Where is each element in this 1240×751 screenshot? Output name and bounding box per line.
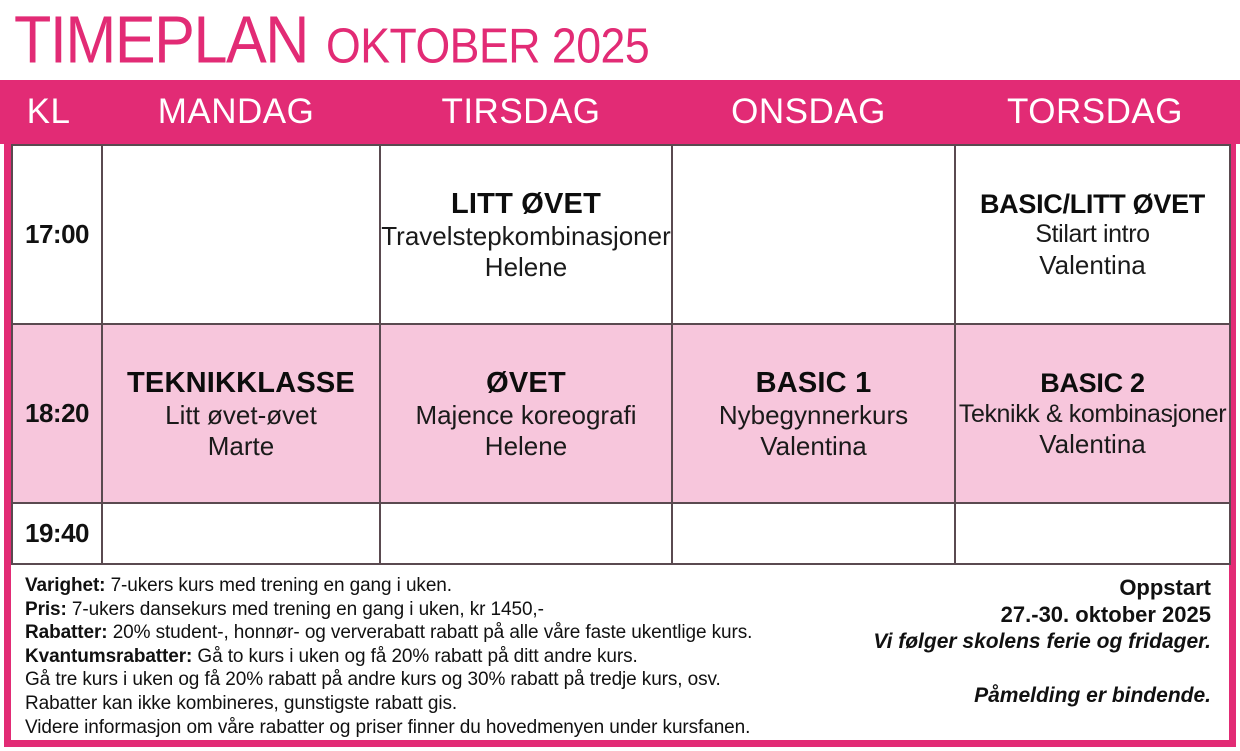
footer-line-text: Gå to kurs i uken og få 20% rabatt på di… bbox=[192, 646, 637, 667]
class-title: TEKNIKKLASSE bbox=[127, 366, 355, 400]
page-title: TIMEPLAN bbox=[14, 7, 308, 74]
poster-title-bar: TIMEPLAN OKTOBER 2025 bbox=[0, 0, 1240, 86]
start-dates: 27.-30. oktober 2025 bbox=[869, 601, 1211, 628]
class-desc: Teknikk & kombinasjoner bbox=[959, 400, 1226, 430]
footer-line-label: Pris: bbox=[25, 599, 67, 620]
class-teacher: Helene bbox=[485, 252, 567, 283]
start-label: Oppstart bbox=[869, 574, 1211, 601]
footer-line-text: 7-ukers dansekurs med trening en gang i … bbox=[67, 599, 544, 620]
schedule-row-1700: 17:00 LITT ØVET Travelstepkombinasjoner bbox=[12, 145, 1230, 324]
class-teacher: Valentina bbox=[1039, 429, 1146, 460]
class-title: ØVET bbox=[486, 366, 566, 400]
footer-line-text: Videre informasjon om våre rabatter og p… bbox=[25, 717, 750, 738]
class-cell-torsdag-1940[interactable] bbox=[955, 503, 1230, 564]
class-cell-tirsdag-1940[interactable] bbox=[380, 503, 672, 564]
poster-title: TIMEPLAN OKTOBER 2025 bbox=[14, 11, 659, 74]
class-cell-onsdag-1820[interactable]: BASIC 1 Nybegynnerkurs Valentina bbox=[672, 324, 955, 503]
holiday-note: Vi følger skolens ferie og fridager. bbox=[869, 628, 1211, 655]
footer-line-label: Rabatter: bbox=[25, 622, 108, 643]
class-title: BASIC 2 bbox=[1040, 368, 1144, 400]
column-header-mandag: MANDAG bbox=[97, 94, 375, 131]
class-teacher: Valentina bbox=[1039, 250, 1146, 281]
class-teacher: Helene bbox=[485, 431, 567, 462]
footer-line-text: 20% student-, honnør- og ververabatt rab… bbox=[108, 622, 753, 643]
class-desc: Majence koreografi bbox=[415, 400, 636, 431]
class-title: BASIC/LITT ØVET bbox=[980, 189, 1205, 221]
class-cell-mandag-1820[interactable]: TEKNIKKLASSE Litt øvet-øvet Marte bbox=[102, 324, 380, 503]
class-title: BASIC 1 bbox=[756, 366, 872, 400]
class-desc: Nybegynnerkurs bbox=[719, 400, 908, 431]
footer-line-label: Kvantumsrabatter: bbox=[25, 646, 192, 667]
class-title: LITT ØVET bbox=[451, 187, 601, 221]
schedule-row-1820: 18:20 TEKNIKKLASSE Litt øvet-øvet Marte … bbox=[12, 324, 1230, 503]
page-subtitle: OKTOBER 2025 bbox=[326, 21, 649, 70]
time-label: 17:00 bbox=[25, 219, 89, 249]
class-desc: Litt øvet-øvet bbox=[165, 400, 317, 431]
class-cell-mandag-1940[interactable] bbox=[102, 503, 380, 564]
footer-info: Varighet: 7-ukers kurs med trening en ga… bbox=[4, 565, 1236, 747]
day-header-row: KL MANDAG TIRSDAG ONSDAG TORSDAG bbox=[0, 80, 1240, 144]
time-cell-1940: 19:40 bbox=[12, 503, 102, 564]
schedule-grid: 17:00 LITT ØVET Travelstepkombinasjoner bbox=[4, 144, 1236, 565]
footer-line-kombineres: Rabatter kan ikke kombineres, gunstigste… bbox=[25, 692, 869, 716]
class-teacher: Valentina bbox=[760, 431, 867, 462]
class-teacher: Marte bbox=[208, 431, 274, 462]
footer-line-rabatter: Rabatter: 20% student-, honnør- og verve… bbox=[25, 621, 869, 645]
time-cell-1820: 18:20 bbox=[12, 324, 102, 503]
class-cell-mandag-1700[interactable] bbox=[102, 145, 380, 324]
class-cell-onsdag-1940[interactable] bbox=[672, 503, 955, 564]
schedule-row-1940: 19:40 bbox=[12, 503, 1230, 564]
time-cell-1700: 17:00 bbox=[12, 145, 102, 324]
footer-terms-list: Varighet: 7-ukers kurs med trening en ga… bbox=[11, 565, 869, 740]
footer-line-text: Rabatter kan ikke kombineres, gunstigste… bbox=[25, 693, 457, 714]
footer-line-tre-kurs: Gå tre kurs i uken og få 20% rabatt på a… bbox=[25, 668, 869, 692]
class-cell-onsdag-1700[interactable] bbox=[672, 145, 955, 324]
class-cell-tirsdag-1820[interactable]: ØVET Majence koreografi Helene bbox=[380, 324, 672, 503]
class-desc: Stilart intro bbox=[1035, 220, 1149, 250]
column-header-kl: KL bbox=[0, 94, 97, 131]
column-header-onsdag: ONSDAG bbox=[667, 94, 950, 131]
footer-line-text: Gå tre kurs i uken og få 20% rabatt på a… bbox=[25, 669, 721, 690]
class-cell-tirsdag-1700[interactable]: LITT ØVET Travelstepkombinasjoner Helene bbox=[380, 145, 672, 324]
time-label: 19:40 bbox=[25, 518, 89, 548]
footer-line-videre-info: Videre informasjon om våre rabatter og p… bbox=[25, 716, 869, 740]
footer-line-kvantumsrabatter: Kvantumsrabatter: Gå to kurs i uken og f… bbox=[25, 645, 869, 669]
footer-line-varighet: Varighet: 7-ukers kurs med trening en ga… bbox=[25, 574, 869, 598]
footer-spacer bbox=[869, 655, 1211, 682]
time-label: 18:20 bbox=[25, 398, 89, 428]
class-cell-torsdag-1820[interactable]: BASIC 2 Teknikk & kombinasjoner Valentin… bbox=[955, 324, 1230, 503]
column-header-tirsdag: TIRSDAG bbox=[375, 94, 667, 131]
footer-line-label: Varighet: bbox=[25, 575, 105, 596]
footer-line-pris: Pris: 7-ukers dansekurs med trening en g… bbox=[25, 598, 869, 622]
footer-start-info: Oppstart 27.-30. oktober 2025 Vi følger … bbox=[869, 565, 1229, 740]
binding-note: Påmelding er bindende. bbox=[869, 682, 1211, 709]
class-cell-torsdag-1700[interactable]: BASIC/LITT ØVET Stilart intro Valentina bbox=[955, 145, 1230, 324]
column-header-torsdag: TORSDAG bbox=[950, 94, 1240, 131]
timetable-poster: TIMEPLAN OKTOBER 2025 KL MANDAG TIRSDAG … bbox=[0, 0, 1240, 751]
footer-line-text: 7-ukers kurs med trening en gang i uken. bbox=[105, 575, 452, 596]
class-desc: Travelstepkombinasjoner bbox=[381, 221, 671, 252]
